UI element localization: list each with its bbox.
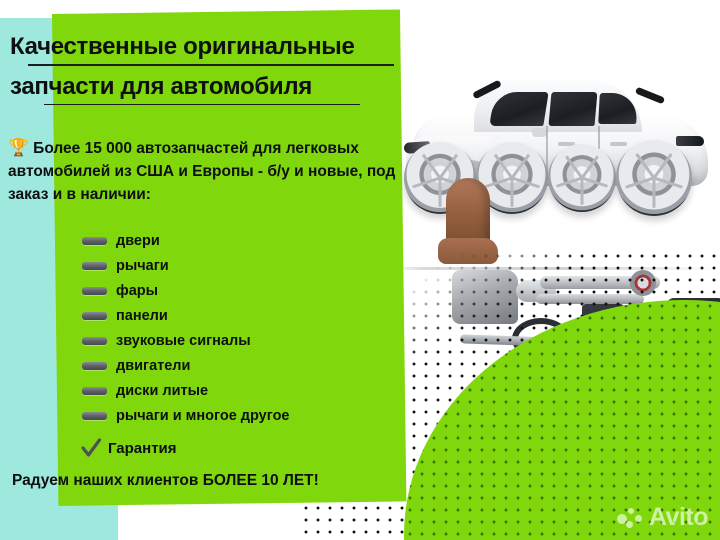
dash-bullet-icon (82, 362, 107, 370)
wheel-spoke (581, 178, 584, 205)
dash-bullet-icon (82, 387, 107, 395)
list-item-label: рычаги (116, 258, 169, 274)
list-item-label: двери (116, 233, 160, 249)
list-item-label: панели (116, 308, 168, 324)
wheel-spoke (422, 154, 441, 179)
list-item-label: рычаги и многое другое (116, 408, 290, 424)
avito-wordmark: Avito (649, 505, 708, 530)
wheel-spoke (511, 178, 514, 207)
wheel-spoke (582, 177, 609, 188)
wheel-3 (548, 144, 616, 212)
wheel-4 (616, 140, 692, 216)
headline-line-1: Качественные оригинальные (10, 32, 408, 62)
dash-bullet-icon (82, 287, 107, 295)
wheel-spoke (511, 154, 530, 179)
car-taillight (676, 136, 704, 146)
dash-bullet-icon (82, 412, 107, 420)
wheel-spoke (653, 178, 656, 208)
headline-rule-1 (28, 64, 394, 66)
avito-watermark: Avito (617, 505, 708, 530)
list-item: фары (82, 278, 412, 303)
checkmark-icon (80, 437, 102, 459)
bottom-tagline: Радуем наших клиентов БОЛЕЕ 10 ЛЕТ! (12, 472, 412, 490)
list-item: рычаги (82, 253, 412, 278)
list-item: двигатели (82, 353, 412, 378)
headline-line-2: запчасти для автомобиля (10, 72, 408, 102)
wheel-spoke (654, 177, 684, 189)
wheel-spoke (581, 155, 599, 179)
intro-text: Более 15 000 автозапчастей для легковых … (8, 140, 395, 203)
list-item: двери (82, 228, 412, 253)
list-item: панели (82, 303, 412, 328)
car-door-handle-rear (610, 142, 627, 146)
intro-paragraph: 🏆Более 15 000 автозапчастей для легковых… (8, 136, 412, 206)
list-item-label: двигатели (116, 358, 190, 374)
list-item-label: фары (116, 283, 158, 299)
dash-bullet-icon (82, 237, 107, 245)
trophy-icon: 🏆 (8, 138, 29, 157)
avito-dots-icon (617, 507, 643, 529)
car-window-middle (549, 92, 598, 126)
list-item: звуковые сигналы (82, 328, 412, 353)
wheel-spoke (653, 153, 673, 179)
seat-backrest (446, 178, 490, 244)
parts-list: двери рычаги фары панели звуковые сигнал… (82, 228, 412, 428)
list-item-label: диски литые (116, 383, 208, 399)
guarantee-label: Гарантия (108, 440, 177, 457)
advertisement-banner: Качественные оригинальные запчасти для а… (0, 0, 720, 540)
list-item: диски литые (82, 378, 412, 403)
ad-text-content: Качественные оригинальные запчасти для а… (0, 0, 420, 540)
car-side-mirror (532, 128, 547, 137)
dash-bullet-icon (82, 312, 107, 320)
headline-rule-2 (44, 104, 360, 106)
dash-bullet-icon (82, 337, 107, 345)
wheel-spoke (625, 177, 655, 189)
wheel-spoke (556, 177, 583, 188)
wheel-spoke (635, 153, 655, 179)
car-window-rear (598, 93, 638, 124)
list-item-label: звуковые сигналы (116, 333, 251, 349)
wheel-spoke (439, 154, 458, 179)
list-item: рычаги и многое другое (82, 403, 412, 428)
headline-block: Качественные оригинальные запчасти для а… (10, 32, 408, 111)
dash-bullet-icon (82, 262, 107, 270)
guarantee-row: Гарантия (80, 437, 177, 459)
car-pillar-rear (635, 87, 665, 105)
wheel-spoke (512, 177, 540, 189)
wheel-spoke (494, 154, 513, 179)
